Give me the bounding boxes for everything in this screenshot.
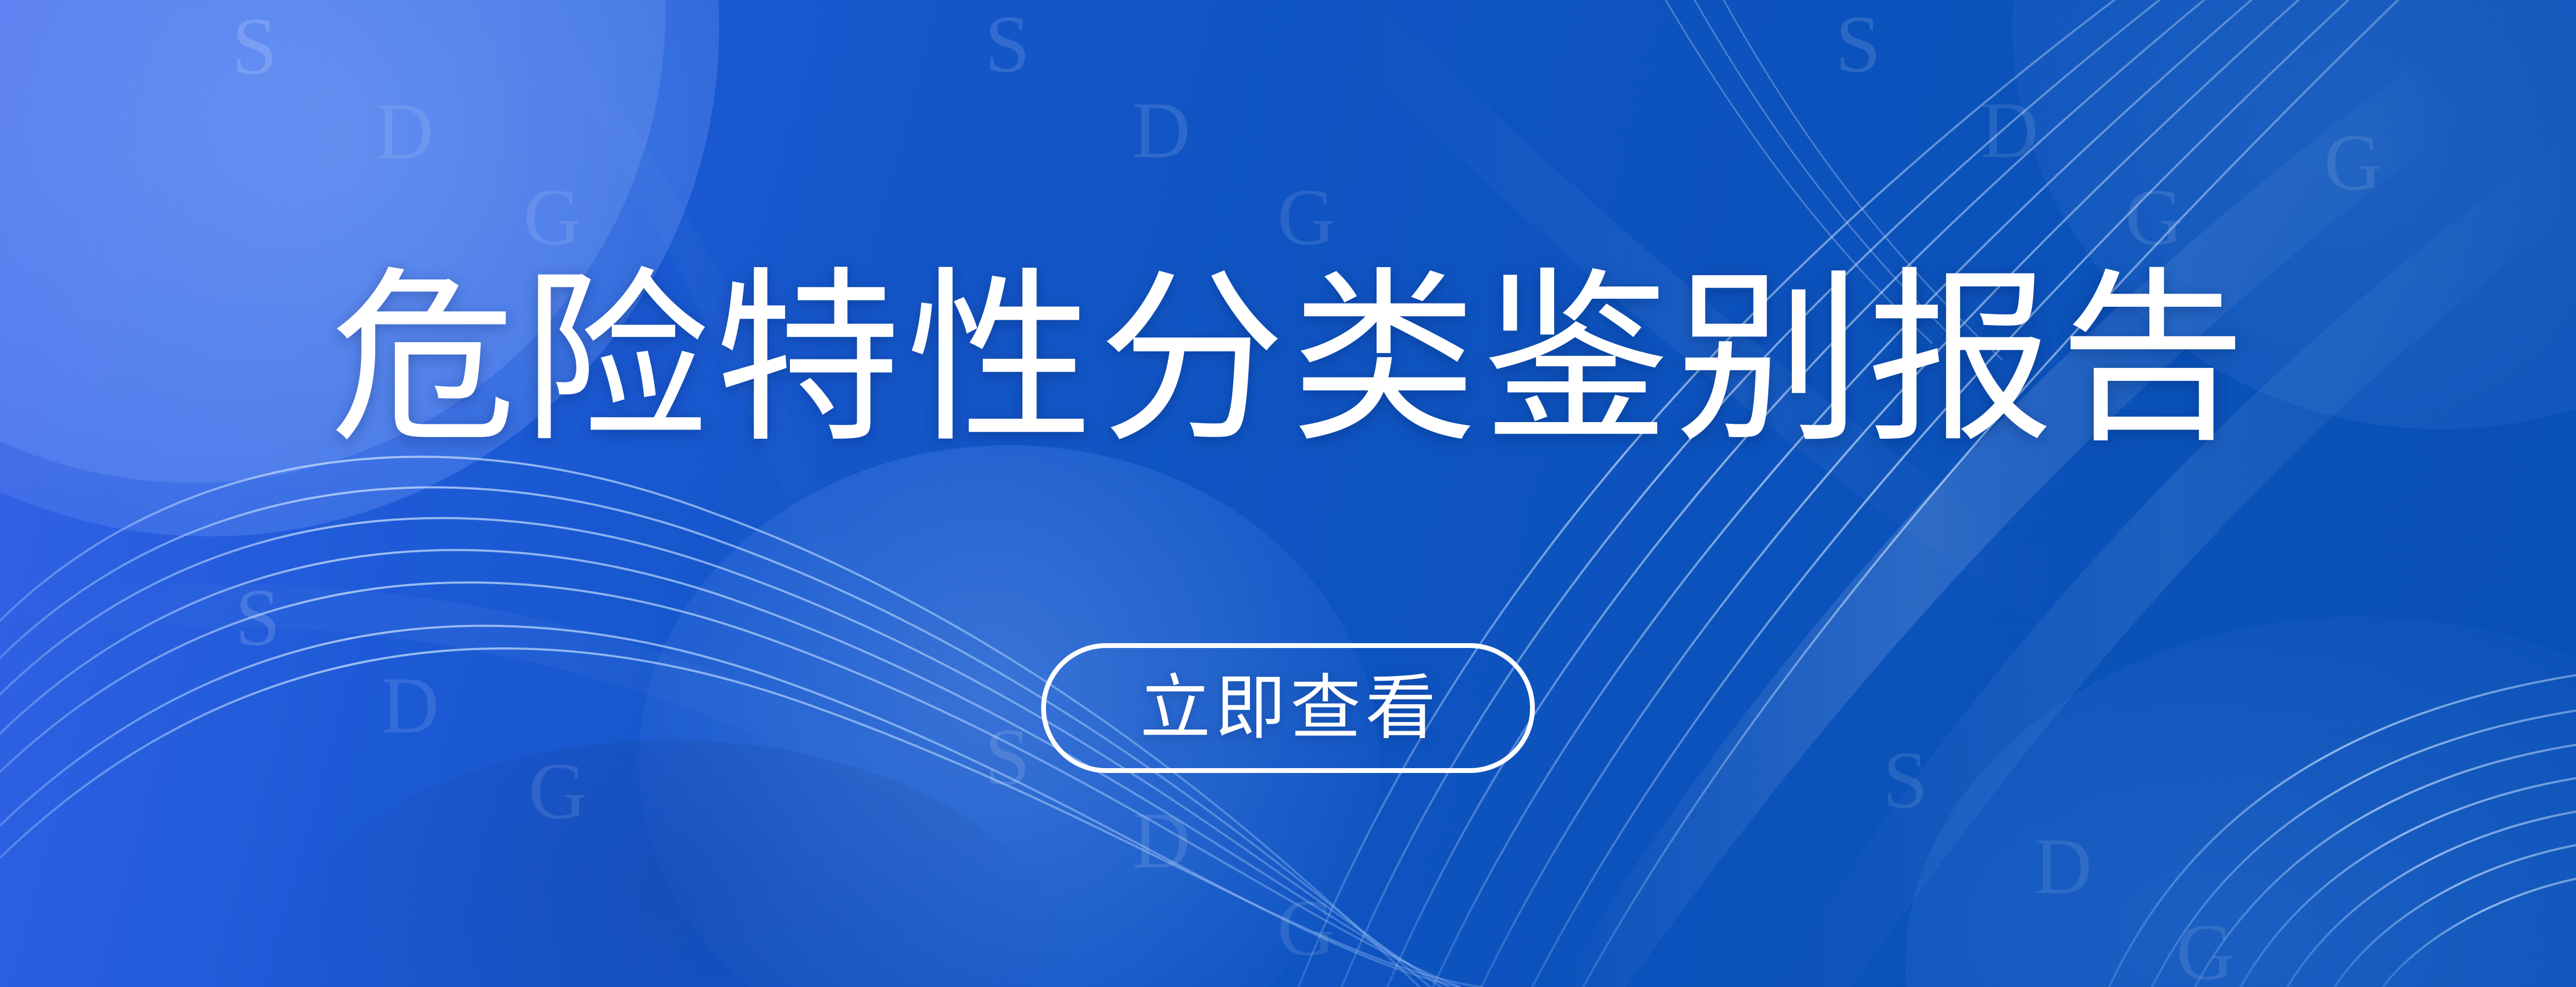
view-now-button[interactable]: 立即查看 xyxy=(1041,643,1535,773)
banner-content: 危险特性分类鉴别报告 立即查看 xyxy=(0,0,2576,987)
view-now-button-label: 立即查看 xyxy=(1136,673,1440,743)
promo-banner: SDGSDGSDGSDGSDGSDGG 危险特性分类鉴别报告 立即查看 xyxy=(0,0,2576,987)
page-title: 危险特性分类鉴别报告 xyxy=(325,266,2251,453)
